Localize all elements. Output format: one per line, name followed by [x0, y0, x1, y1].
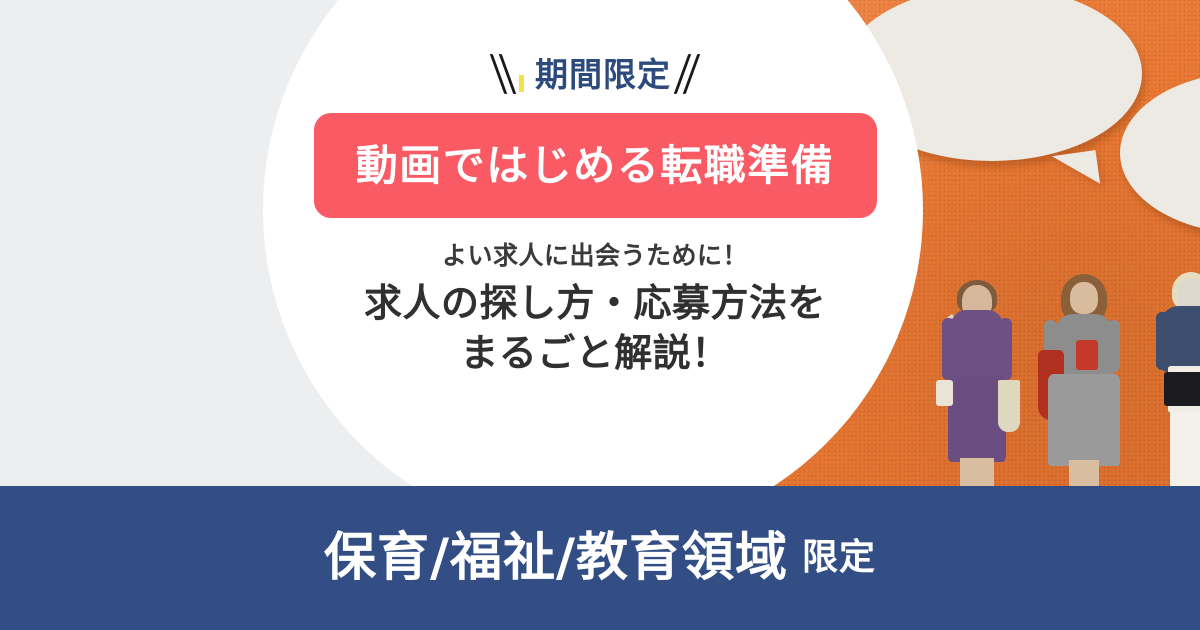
figurine-torso — [949, 310, 1005, 382]
figurine-legs — [1170, 408, 1200, 486]
promo-banner: 期間限定 動画ではじめる転職準備 よい求人に出会うために！ 求人の探し方・応募方… — [0, 0, 1200, 630]
slash-decoration-left-icon — [497, 54, 509, 94]
figurine-blue-top — [1152, 272, 1200, 486]
figurine-legs — [960, 458, 994, 486]
figurine-bag-left — [936, 380, 953, 406]
bottom-bar: 保育/福祉/教育領域 限定 — [0, 486, 1200, 630]
figurine-head — [1070, 282, 1098, 314]
yellow-accent-icon — [519, 75, 524, 92]
figurine-legs — [1069, 460, 1099, 486]
bottom-bar-sub-label: 限定 — [802, 540, 876, 576]
figurine-briefcase — [1164, 372, 1200, 406]
figurine-red-pouch — [1076, 340, 1098, 370]
figurine-grey-dress — [1042, 274, 1126, 486]
subtitle-lead: よい求人に出会うために！ — [442, 242, 748, 270]
headline-line-1: 求人の探し方・応募方法を — [364, 278, 826, 328]
banner-content: 期間限定 動画ではじめる転職準備 よい求人に出会うために！ 求人の探し方・応募方… — [275, 0, 915, 486]
title-badge: 動画ではじめる転職準備 — [314, 113, 877, 218]
slash-mark — [490, 54, 508, 94]
figurine-purple-dress — [938, 280, 1016, 486]
eyebrow-label: 期間限定 — [535, 58, 671, 91]
figurine-skirt — [1048, 374, 1120, 466]
slash-decoration-right-icon — [681, 54, 693, 94]
figurine-bag-right — [998, 380, 1020, 432]
eyebrow-row: 期間限定 — [497, 52, 693, 96]
title-badge-label: 動画ではじめる転職準備 — [356, 145, 835, 187]
bottom-bar-main-label: 保育/福祉/教育領域 — [324, 532, 788, 584]
figurine-torso — [1160, 306, 1200, 372]
headline-line-2: まるごと解説！ — [460, 328, 730, 378]
